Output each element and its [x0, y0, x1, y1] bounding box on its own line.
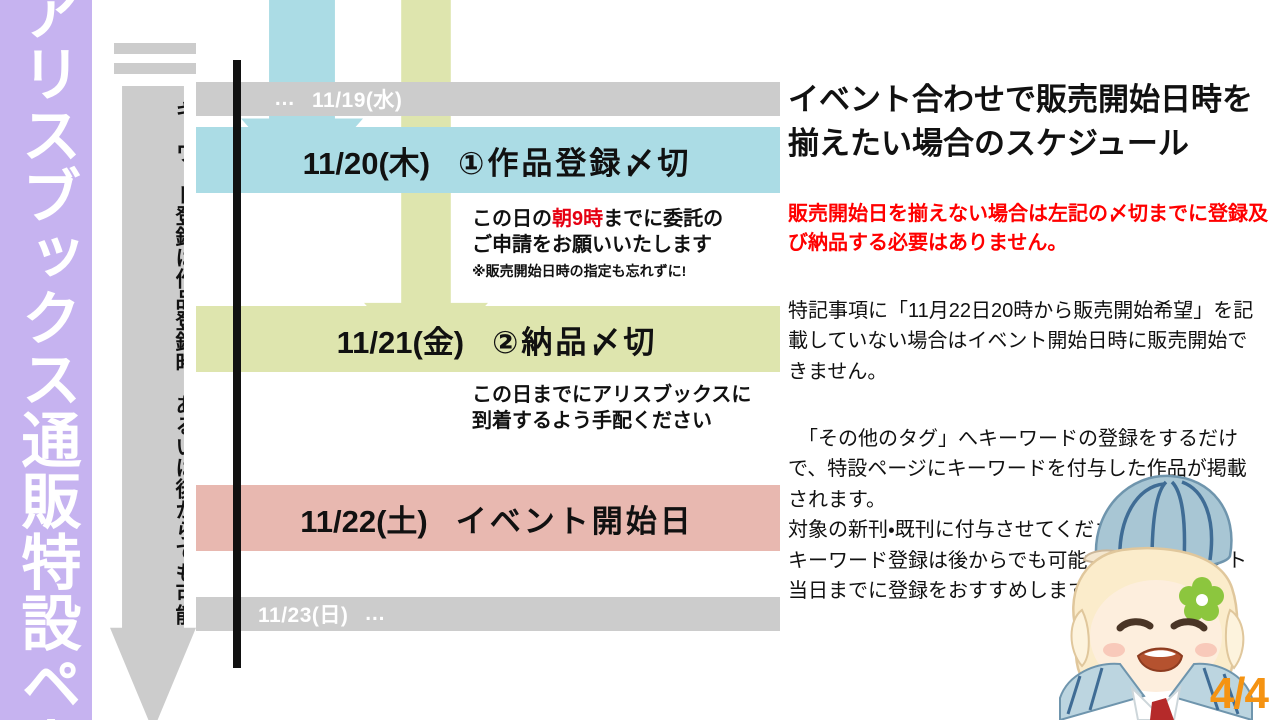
- gray-tick-bar-2: [114, 63, 196, 74]
- row-date-1119: 11/19(水): [312, 84, 402, 114]
- explanation-column: イベント合わせで販売開始日時を揃えたい場合のスケジュール 販売開始日を揃えない場…: [788, 0, 1280, 720]
- row-date-1120: 11/20(木): [303, 138, 431, 183]
- note-post-text: までに委託の: [603, 208, 723, 230]
- leading-ellipsis: …: [274, 87, 296, 111]
- timeline-row-1121: 11/21(金) ②納品〆切: [196, 306, 780, 372]
- timeline-spine: [233, 60, 241, 668]
- timeline-row-1123: 11/23(日) …: [196, 597, 780, 631]
- trailing-ellipsis: …: [364, 602, 386, 626]
- schedule-timeline: … 11/19(水) 11/20(木) ①作品登録〆切 この日の朝9時までに委託…: [196, 0, 780, 720]
- purple-side-banner: アリスブックス通販特設ページ掲載申込: [0, 0, 92, 720]
- gray-tick-bar-1: [114, 43, 196, 54]
- slide-root: アリスブックス通販特設ページ掲載申込 キーワード登録は作品登録時、あるいは後から…: [0, 0, 1280, 720]
- note-registration: この日の朝9時までに委託の ご申請をお願いいたします ※販売開始日時の指定も忘れ…: [472, 206, 723, 280]
- note-delivery-line2: 到着するよう手配ください: [472, 408, 751, 434]
- row-title-1122: イベント開始日: [456, 496, 694, 541]
- note-delivery-line1: この日までにアリスブックスに: [472, 382, 751, 408]
- page-number: 4/4: [1210, 672, 1268, 716]
- keyword-down-arrow: キーワード登録は作品登録時、あるいは後からでも可能: [110, 86, 196, 720]
- banner-vertical-title: アリスブックス通販特設ページ掲載申込: [16, 0, 76, 720]
- row-title-1121: ②納品〆切: [492, 317, 657, 362]
- note-delivery: この日までにアリスブックスに 到着するよう手配ください: [472, 382, 751, 435]
- warning-text: 販売開始日を揃えない場合は左記の〆切までに登録及び納品する必要はありません。: [788, 200, 1280, 258]
- paragraph-keyword-tag: 「その他のタグ」へキーワードの登録をするだけで、特設ページにキーワードを付与した…: [788, 424, 1266, 606]
- note-registration-line1: この日の朝9時までに委託の: [472, 206, 723, 232]
- timeline-row-1120: 11/20(木) ①作品登録〆切: [196, 127, 780, 193]
- row-title-1120: ①作品登録〆切: [458, 138, 691, 183]
- row-date-1121: 11/21(金): [337, 317, 465, 362]
- keyword-arrow-column: キーワード登録は作品登録時、あるいは後からでも可能: [100, 36, 196, 706]
- page-title: イベント合わせで販売開始日時を揃えたい場合のスケジュール: [788, 78, 1268, 166]
- timeline-row-1119: … 11/19(水): [196, 82, 780, 116]
- note-highlight-time: 朝9時: [552, 208, 603, 230]
- row-date-1122: 11/22(土): [300, 496, 428, 541]
- row-date-1123: 11/23(日): [258, 599, 348, 629]
- paragraph-special-notes: 特記事項に「11月22日20時から販売開始希望」を記載していない場合はイベント開…: [788, 296, 1266, 387]
- note-registration-sub: ※販売開始日時の指定も忘れずに!: [472, 262, 723, 280]
- note-registration-line2: ご申請をお願いいたします: [472, 232, 723, 258]
- keyword-arrow-label: キーワード登録は作品登録時、あるいは後からでも可能: [110, 100, 196, 625]
- timeline-row-1122: 11/22(土) イベント開始日: [196, 485, 780, 551]
- note-pre-text: この日の: [472, 208, 552, 230]
